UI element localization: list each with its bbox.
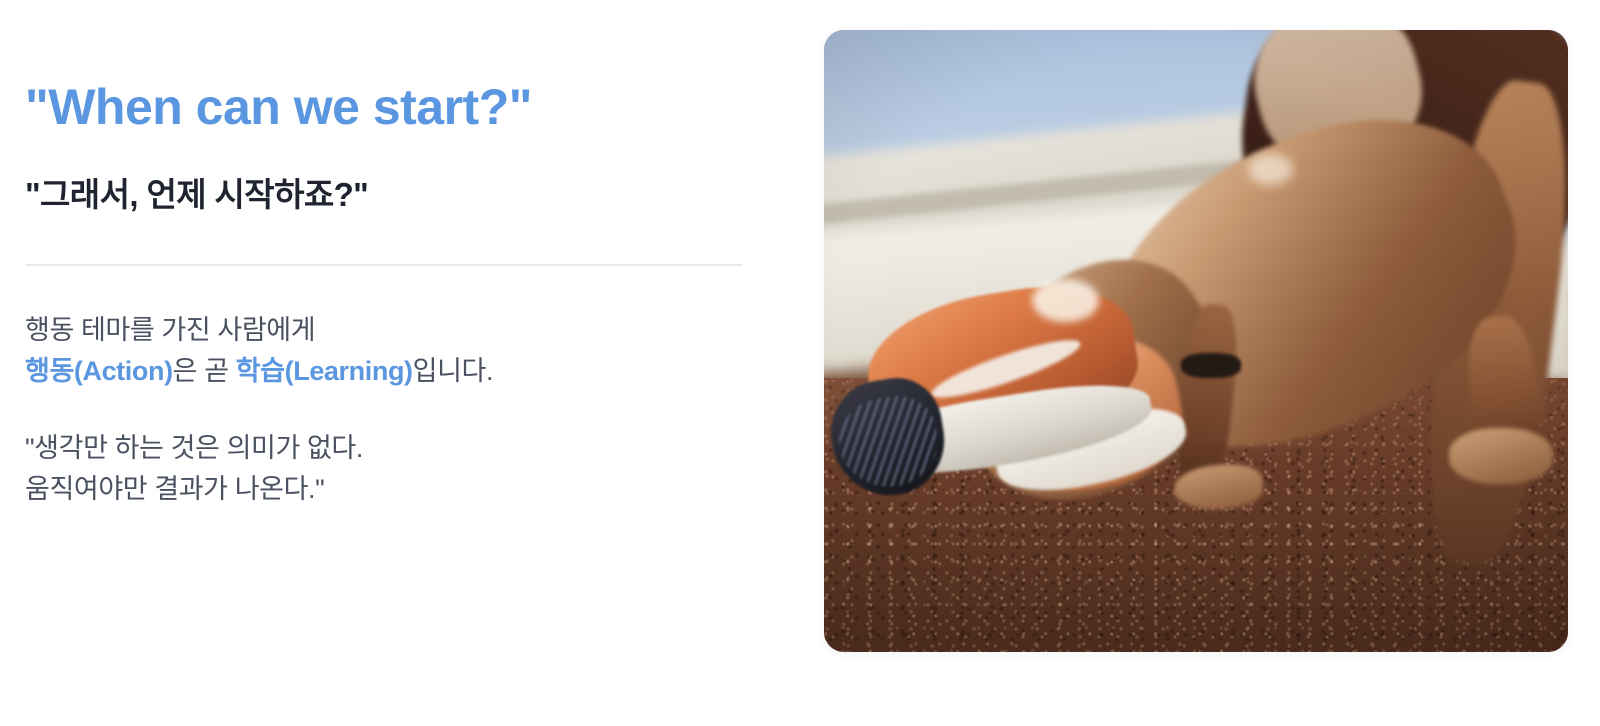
paragraph-2-line-2: 움직여야만 결과가 나온다.": [25, 469, 740, 510]
accent-action: 행동(Action): [25, 356, 173, 386]
slide-root: "When can we start?" "그래서, 언제 시작하죠?" 행동 …: [0, 0, 1600, 726]
text-column: "When can we start?" "그래서, 언제 시작하죠?" 행동 …: [0, 0, 790, 726]
accent-learning: 학습(Learning): [236, 356, 413, 386]
paragraph-1-connector-1: 은 곧: [173, 356, 236, 386]
sprinter-photo: [824, 30, 1568, 652]
paragraph-1-connector-2: 입니다.: [413, 356, 493, 386]
subtitle-korean: "그래서, 언제 시작하죠?": [25, 174, 740, 215]
hero-image: [824, 30, 1568, 652]
section-divider: [25, 264, 742, 266]
paragraph-quote: "생각만 하는 것은 의미가 없다. 움직여야만 결과가 나온다.": [25, 428, 740, 510]
page-title: "When can we start?": [25, 78, 740, 136]
paragraph-2-line-1: "생각만 하는 것은 의미가 없다.: [25, 428, 740, 469]
photo-vignette: [824, 30, 1568, 652]
body-content: 행동 테마를 가진 사람에게 행동(Action)은 곧 학습(Learning…: [25, 310, 740, 510]
paragraph-1-line-1: 행동 테마를 가진 사람에게: [25, 310, 740, 351]
paragraph-1-line-2: 행동(Action)은 곧 학습(Learning)입니다.: [25, 351, 740, 392]
paragraph-action-equals-learning: 행동 테마를 가진 사람에게 행동(Action)은 곧 학습(Learning…: [25, 310, 740, 392]
